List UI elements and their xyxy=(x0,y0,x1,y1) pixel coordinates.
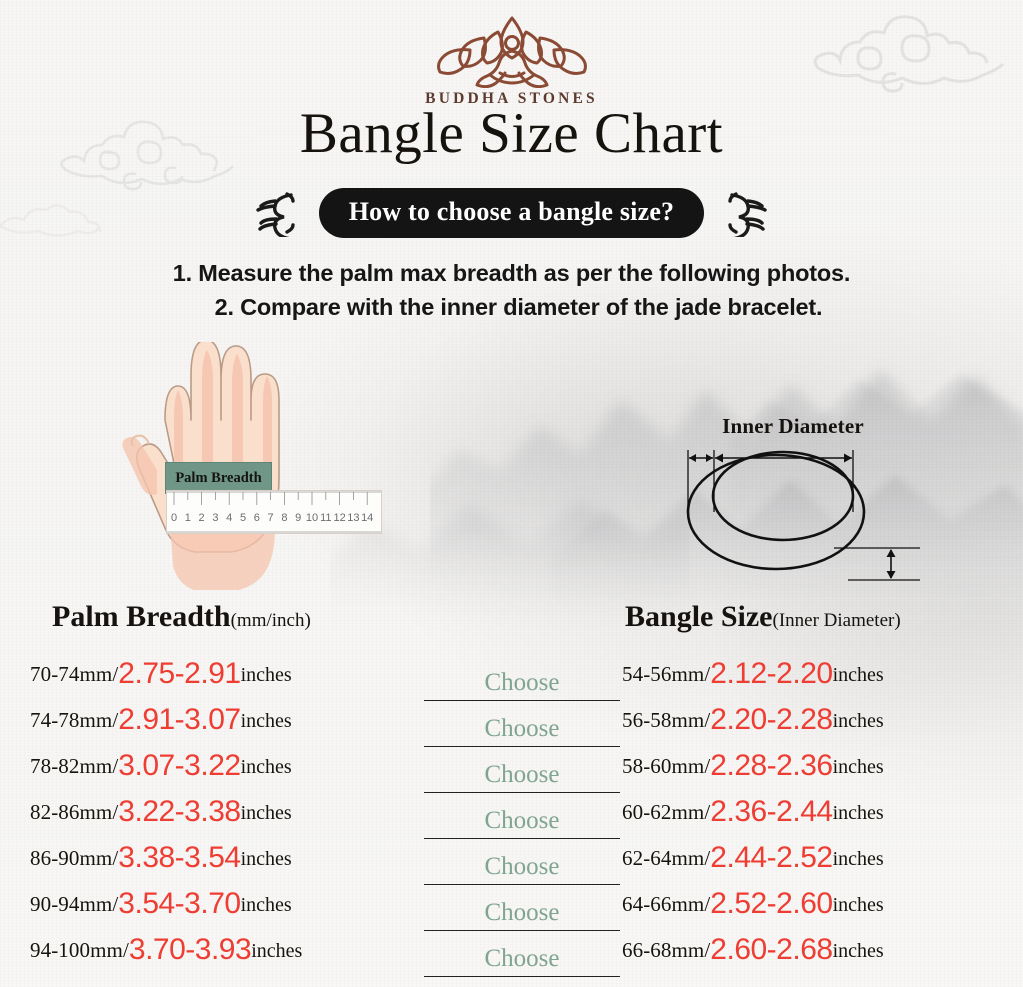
choose-underline xyxy=(424,976,620,977)
table-row: 54-56mm/2.12-2.20inches xyxy=(622,655,1002,701)
choose-cell[interactable]: Choose xyxy=(424,655,620,701)
bangle-size-unit: inches xyxy=(833,664,884,687)
bangle-size-mm: 56-58mm/ xyxy=(622,708,710,733)
bangle-size-heading-text: Bangle Size xyxy=(625,600,773,633)
choose-label[interactable]: Choose xyxy=(485,900,560,925)
table-row: 90-94mm/3.54-3.70inches xyxy=(30,885,430,931)
table-row: 70-74mm/2.75-2.91inches xyxy=(30,655,430,701)
table-row: 74-78mm/2.91-3.07inches xyxy=(30,701,430,747)
bangle-ring-icon xyxy=(648,408,938,588)
palm-breadth-inch: 3.22-3.38 xyxy=(118,795,240,829)
palm-breadth-mm: 74-78mm/ xyxy=(30,708,118,733)
table-row: 60-62mm/2.36-2.44inches xyxy=(622,793,1002,839)
ruler-tick-label: 0 xyxy=(171,512,177,524)
table-row: 82-86mm/3.22-3.38inches xyxy=(30,793,430,839)
palm-breadth-heading-text: Palm Breadth xyxy=(52,600,231,633)
palm-breadth-unit: inches xyxy=(241,756,292,779)
how-to-choose-banner: How to choose a bangle size? xyxy=(0,188,1023,238)
bangle-size-heading-unit: (Inner Diameter) xyxy=(773,610,901,631)
palm-breadth-inch: 2.75-2.91 xyxy=(118,657,240,691)
instruction-step-2: 2. Compare with the inner diameter of th… xyxy=(0,290,1023,324)
ruler-tick-label: 11 xyxy=(320,512,331,524)
palm-breadth-mm: 78-82mm/ xyxy=(30,754,118,779)
brand-logo: BUDDHA STONES xyxy=(0,12,1023,108)
palm-breadth-inch: 3.07-3.22 xyxy=(118,749,240,783)
palm-breadth-mm: 86-90mm/ xyxy=(30,846,118,871)
bangle-size-unit: inches xyxy=(833,894,884,917)
ruler-tick-label: 7 xyxy=(268,512,274,524)
palm-breadth-band-label: Palm Breadth xyxy=(175,470,261,487)
bangle-size-inch: 2.28-2.36 xyxy=(710,749,832,783)
bangle-size-inch: 2.20-2.28 xyxy=(710,703,832,737)
bangle-size-unit: inches xyxy=(833,848,884,871)
choose-underline xyxy=(424,930,620,931)
bangle-size-mm: 66-68mm/ xyxy=(622,938,710,963)
palm-breadth-inch: 3.70-3.93 xyxy=(129,933,251,967)
ruler-tick-label: 1 xyxy=(185,512,191,524)
palm-breadth-mm: 90-94mm/ xyxy=(30,892,118,917)
choose-underline xyxy=(424,884,620,885)
choose-cell[interactable]: Choose xyxy=(424,885,620,931)
ruler-tick-label: 9 xyxy=(295,512,301,524)
bangle-size-table: 54-56mm/2.12-2.20inches56-58mm/2.20-2.28… xyxy=(622,655,1002,977)
choose-cell[interactable]: Choose xyxy=(424,931,620,977)
ruler-tick-label: 8 xyxy=(281,512,287,524)
choose-underline xyxy=(424,792,620,793)
ruler-tick-label: 5 xyxy=(240,512,246,524)
palm-breadth-inch: 3.54-3.70 xyxy=(118,887,240,921)
bangle-size-unit: inches xyxy=(833,802,884,825)
table-row: 64-66mm/2.52-2.60inches xyxy=(622,885,1002,931)
choose-underline xyxy=(424,838,620,839)
table-row: 66-68mm/2.60-2.68inches xyxy=(622,931,1002,977)
choose-label[interactable]: Choose xyxy=(485,854,560,879)
ruler-icon: 01234567891011121314 xyxy=(166,490,382,534)
choose-cell[interactable]: Choose xyxy=(424,793,620,839)
palm-breadth-table: 70-74mm/2.75-2.91inches74-78mm/2.91-3.07… xyxy=(30,655,430,977)
palm-breadth-unit: inches xyxy=(241,894,292,917)
bangle-size-unit: inches xyxy=(833,756,884,779)
ornament-swirl-right-icon xyxy=(718,189,772,237)
choose-underline xyxy=(424,700,620,701)
palm-breadth-column-heading: Palm Breadth(mm/inch) xyxy=(52,600,311,634)
palm-breadth-mm: 70-74mm/ xyxy=(30,662,118,687)
bangle-size-mm: 60-62mm/ xyxy=(622,800,710,825)
palm-breadth-mm: 94-100mm/ xyxy=(30,938,129,963)
bangle-size-column-heading: Bangle Size(Inner Diameter) xyxy=(625,600,901,634)
choose-cell[interactable]: Choose xyxy=(424,839,620,885)
bangle-size-inch: 2.60-2.68 xyxy=(710,933,832,967)
bangle-size-mm: 62-64mm/ xyxy=(622,846,710,871)
ruler-tick-label: 14 xyxy=(361,512,373,524)
choose-label[interactable]: Choose xyxy=(485,716,560,741)
table-row: 62-64mm/2.44-2.52inches xyxy=(622,839,1002,885)
palm-breadth-unit: inches xyxy=(241,802,292,825)
choose-label[interactable]: Choose xyxy=(485,808,560,833)
palm-breadth-unit: inches xyxy=(241,710,292,733)
palm-breadth-heading-unit: (mm/inch) xyxy=(231,610,311,631)
ruler-tick-label: 12 xyxy=(333,512,345,524)
instruction-list: 1. Measure the palm max breadth as per t… xyxy=(0,256,1023,324)
palm-breadth-unit: inches xyxy=(241,848,292,871)
ruler-tick-label: 4 xyxy=(226,512,232,524)
page-title: Bangle Size Chart xyxy=(0,105,1023,162)
bangle-size-unit: inches xyxy=(833,940,884,963)
ruler-tick-label: 3 xyxy=(212,512,218,524)
palm-breadth-unit: inches xyxy=(251,940,302,963)
ruler-tick-label: 2 xyxy=(199,512,205,524)
choose-underline xyxy=(424,746,620,747)
table-row: 94-100mm/3.70-3.93inches xyxy=(30,931,430,977)
bangle-size-mm: 54-56mm/ xyxy=(622,662,710,687)
bangle-size-inch: 2.12-2.20 xyxy=(710,657,832,691)
instruction-step-1: 1. Measure the palm max breadth as per t… xyxy=(0,256,1023,290)
choose-column: ChooseChooseChooseChooseChooseChooseChoo… xyxy=(424,655,620,977)
choose-label[interactable]: Choose xyxy=(485,670,560,695)
table-row: 58-60mm/2.28-2.36inches xyxy=(622,747,1002,793)
bangle-size-mm: 64-66mm/ xyxy=(622,892,710,917)
ruler-tick-label: 13 xyxy=(347,512,359,524)
lotus-meditation-icon xyxy=(432,12,592,88)
ruler-tick-label: 10 xyxy=(306,512,318,524)
palm-breadth-unit: inches xyxy=(241,664,292,687)
palm-breadth-mm: 82-86mm/ xyxy=(30,800,118,825)
choose-label[interactable]: Choose xyxy=(485,946,560,971)
choose-label[interactable]: Choose xyxy=(485,762,560,787)
bangle-size-chart-page: BUDDHA STONES Bangle Size Chart How to c… xyxy=(0,0,1023,987)
bangle-size-unit: inches xyxy=(833,710,884,733)
how-to-choose-pill: How to choose a bangle size? xyxy=(319,188,705,238)
palm-breadth-inch: 2.91-3.07 xyxy=(118,703,240,737)
bangle-size-mm: 58-60mm/ xyxy=(622,754,710,779)
palm-breadth-inch: 3.38-3.54 xyxy=(118,841,240,875)
bangle-size-inch: 2.52-2.60 xyxy=(710,887,832,921)
table-row: 56-58mm/2.20-2.28inches xyxy=(622,701,1002,747)
choose-cell[interactable]: Choose xyxy=(424,701,620,747)
choose-cell[interactable]: Choose xyxy=(424,747,620,793)
table-row: 78-82mm/3.07-3.22inches xyxy=(30,747,430,793)
bangle-size-inch: 2.36-2.44 xyxy=(710,795,832,829)
ruler-tick-label: 6 xyxy=(254,512,260,524)
table-row: 86-90mm/3.38-3.54inches xyxy=(30,839,430,885)
ornament-swirl-left-icon xyxy=(251,189,305,237)
bangle-size-inch: 2.44-2.52 xyxy=(710,841,832,875)
